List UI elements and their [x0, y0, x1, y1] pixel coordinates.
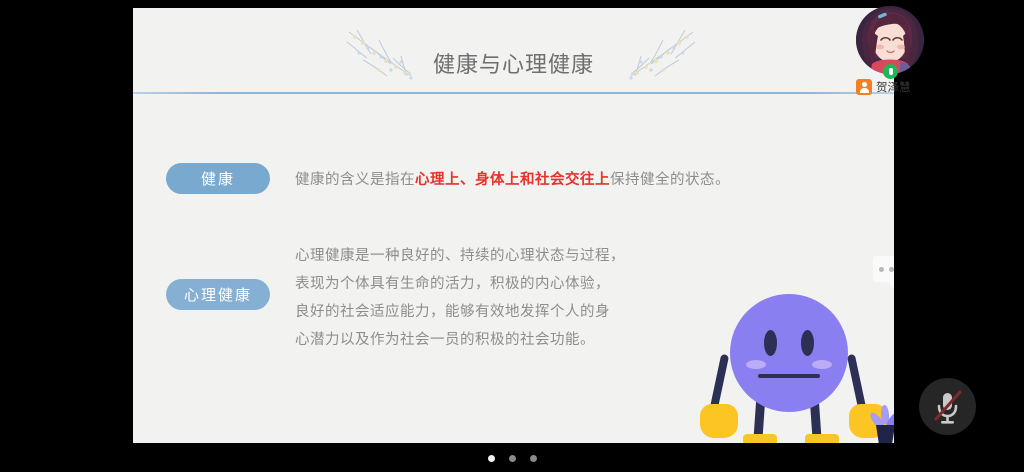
slide-illustration [693, 246, 894, 443]
floral-branch-icon [615, 26, 701, 88]
slide-header: 健康与心理健康 [133, 8, 894, 93]
character-boot-left [743, 434, 777, 443]
character-cheek-left [746, 360, 766, 369]
mental-text-line-2: 表现为个体具有生命的活力，积极的内心体验， [295, 270, 695, 298]
mic-active-icon [883, 64, 898, 79]
pagination-dot-3[interactable] [530, 455, 537, 462]
pagination-dot-2[interactable] [509, 455, 516, 462]
mental-text-line-4: 心潜力以及作为社会一员的积极的社会功能。 [295, 326, 695, 354]
health-text-suffix: 保持健全的状态。 [610, 172, 730, 188]
character-mouth [758, 374, 820, 378]
participant-name-badge: 贺泽慧 [856, 78, 911, 96]
microphone-muted-icon [919, 378, 976, 435]
participant-name-label: 贺泽慧 [876, 79, 911, 95]
shared-slide[interactable]: 健康与心理健康 [133, 8, 894, 443]
character-glove-left [700, 404, 738, 438]
character-cheek-right [812, 360, 832, 369]
health-text-emphasis: 心理上、身体上和社会交往上 [415, 172, 610, 188]
section-badge-mental-health: 心理健康 [166, 279, 270, 310]
purple-round-character [730, 294, 848, 412]
self-view-tile[interactable]: 贺泽慧 [856, 6, 924, 96]
character-eye-right [801, 330, 814, 356]
slide-pagination[interactable] [0, 455, 1024, 462]
section-text-health: 健康的含义是指在心理上、身体上和社会交往上保持健全的状态。 [295, 166, 730, 194]
character-eye-left [764, 330, 777, 356]
mental-text-line-3: 良好的社会适应能力，能够有效地发挥个人的身 [295, 298, 695, 326]
mental-text-line-1: 心理健康是一种良好的、持续的心理状态与过程， [295, 242, 695, 270]
person-icon [856, 79, 872, 95]
health-text-prefix: 健康的含义是指在 [295, 172, 415, 188]
potted-plant-icon [865, 401, 894, 443]
page-title: 健康与心理健康 [133, 52, 894, 80]
typing-dots-bubble-icon [873, 256, 894, 282]
section-text-mental-health: 心理健康是一种良好的、持续的心理状态与过程， 表现为个体具有生命的活力，积极的内… [295, 242, 695, 354]
character-boot-right [805, 434, 839, 443]
pagination-dot-1[interactable] [488, 455, 495, 462]
title-divider [133, 92, 894, 94]
video-call-stage: 健康与心理健康 [0, 0, 1024, 472]
mute-microphone-button[interactable] [919, 378, 976, 435]
section-badge-health: 健康 [166, 163, 270, 194]
